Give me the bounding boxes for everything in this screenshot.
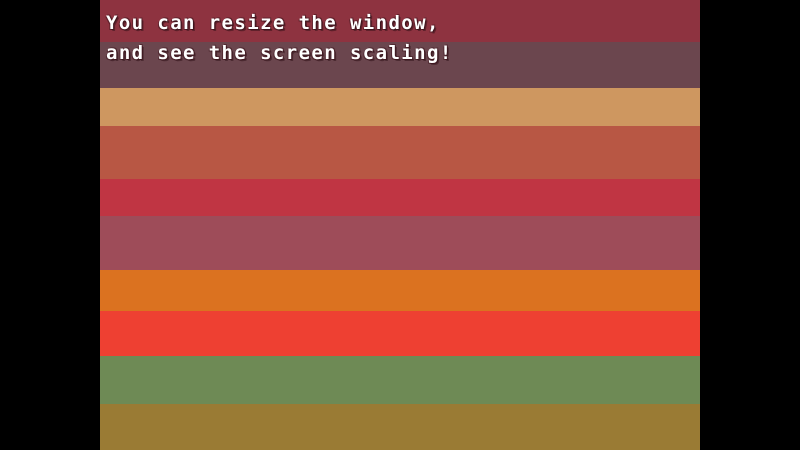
band-dusty-rose — [100, 216, 700, 270]
band-orange — [100, 270, 700, 311]
band-goldenrod — [100, 404, 700, 450]
letterbox-bar-left — [0, 0, 100, 450]
band-tan — [100, 88, 700, 126]
letterbox-bar-right — [700, 0, 800, 450]
band-bright-red — [100, 311, 700, 356]
virtual-screen-viewport[interactable]: You can resize the window, and see the s… — [100, 0, 700, 450]
color-band-stack — [100, 0, 700, 450]
band-terracotta — [100, 126, 700, 179]
band-crimson — [100, 179, 700, 216]
app-window: You can resize the window, and see the s… — [0, 0, 800, 450]
band-olive-green — [100, 356, 700, 404]
band-plum-mauve — [100, 42, 700, 88]
band-dark-brick-red — [100, 0, 700, 42]
